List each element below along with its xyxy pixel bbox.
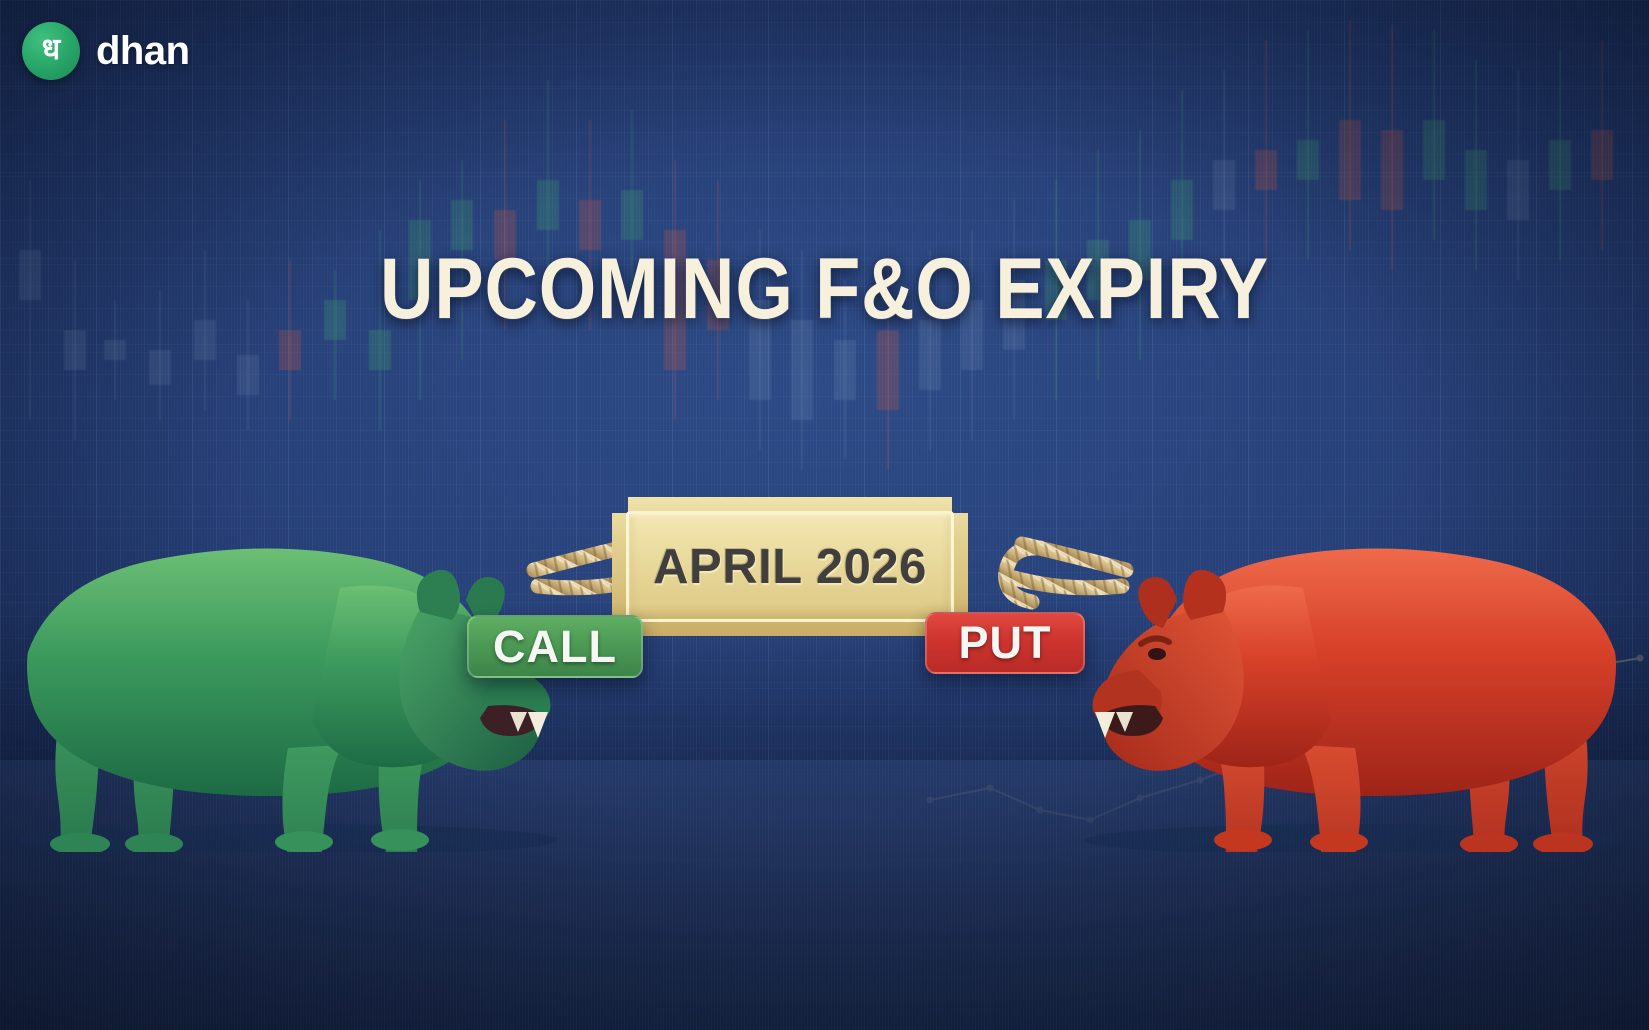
- expiry-month-plaque: APRIL 2026: [612, 497, 968, 636]
- page-title: UPCOMING F&O EXPIRY: [115, 246, 1533, 332]
- call-button-label: CALL: [493, 621, 617, 673]
- brand-logo[interactable]: ध dhan: [22, 22, 190, 80]
- put-button-label: PUT: [959, 617, 1052, 669]
- put-button[interactable]: PUT: [925, 612, 1085, 674]
- red-bear-illustration: [1055, 492, 1649, 852]
- plaque-inner-panel: APRIL 2026: [626, 511, 954, 622]
- brand-wordmark: dhan: [96, 29, 190, 74]
- call-button[interactable]: CALL: [467, 615, 643, 678]
- promo-banner: ध dhan UPCOMING F&O EXPIRY APRIL 2026 CA…: [0, 0, 1649, 1030]
- expiry-month-label: APRIL 2026: [653, 539, 927, 595]
- dhan-logo-icon: ध: [22, 22, 80, 80]
- dhan-logo-glyph: ध: [42, 35, 60, 65]
